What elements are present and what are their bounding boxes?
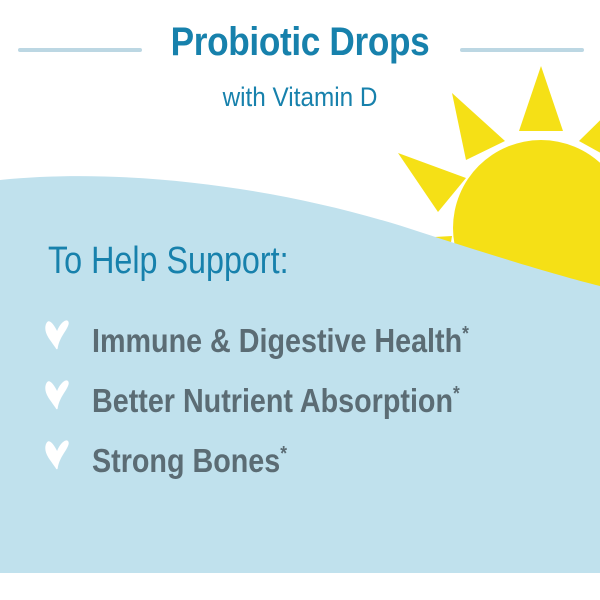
product-banner: Probiotic Drops with Vitamin D To Help S… [0, 0, 600, 600]
main-content: To Help Support: Immune & Digestive Heal… [0, 0, 600, 600]
list-item-label: Immune & Digestive Health* [92, 315, 469, 360]
support-heading: To Help Support: [48, 240, 289, 282]
benefits-list: Immune & Digestive Health* Better Nutrie… [44, 315, 584, 495]
footnote-marker: * [280, 443, 287, 465]
footnote-marker: * [462, 323, 469, 345]
list-item: Immune & Digestive Health* [44, 315, 584, 375]
list-item-label: Better Nutrient Absorption* [92, 375, 460, 420]
list-item: Better Nutrient Absorption* [44, 375, 584, 435]
heart-icon [44, 380, 70, 410]
benefit-label-text: Strong Bones [92, 442, 280, 479]
footnote-marker: * [453, 383, 460, 405]
heart-icon [44, 440, 70, 470]
benefit-label-text: Immune & Digestive Health [92, 322, 462, 359]
heart-icon [44, 320, 70, 350]
list-item: Strong Bones* [44, 435, 584, 495]
benefit-label-text: Better Nutrient Absorption [92, 382, 453, 419]
list-item-label: Strong Bones* [92, 435, 287, 480]
